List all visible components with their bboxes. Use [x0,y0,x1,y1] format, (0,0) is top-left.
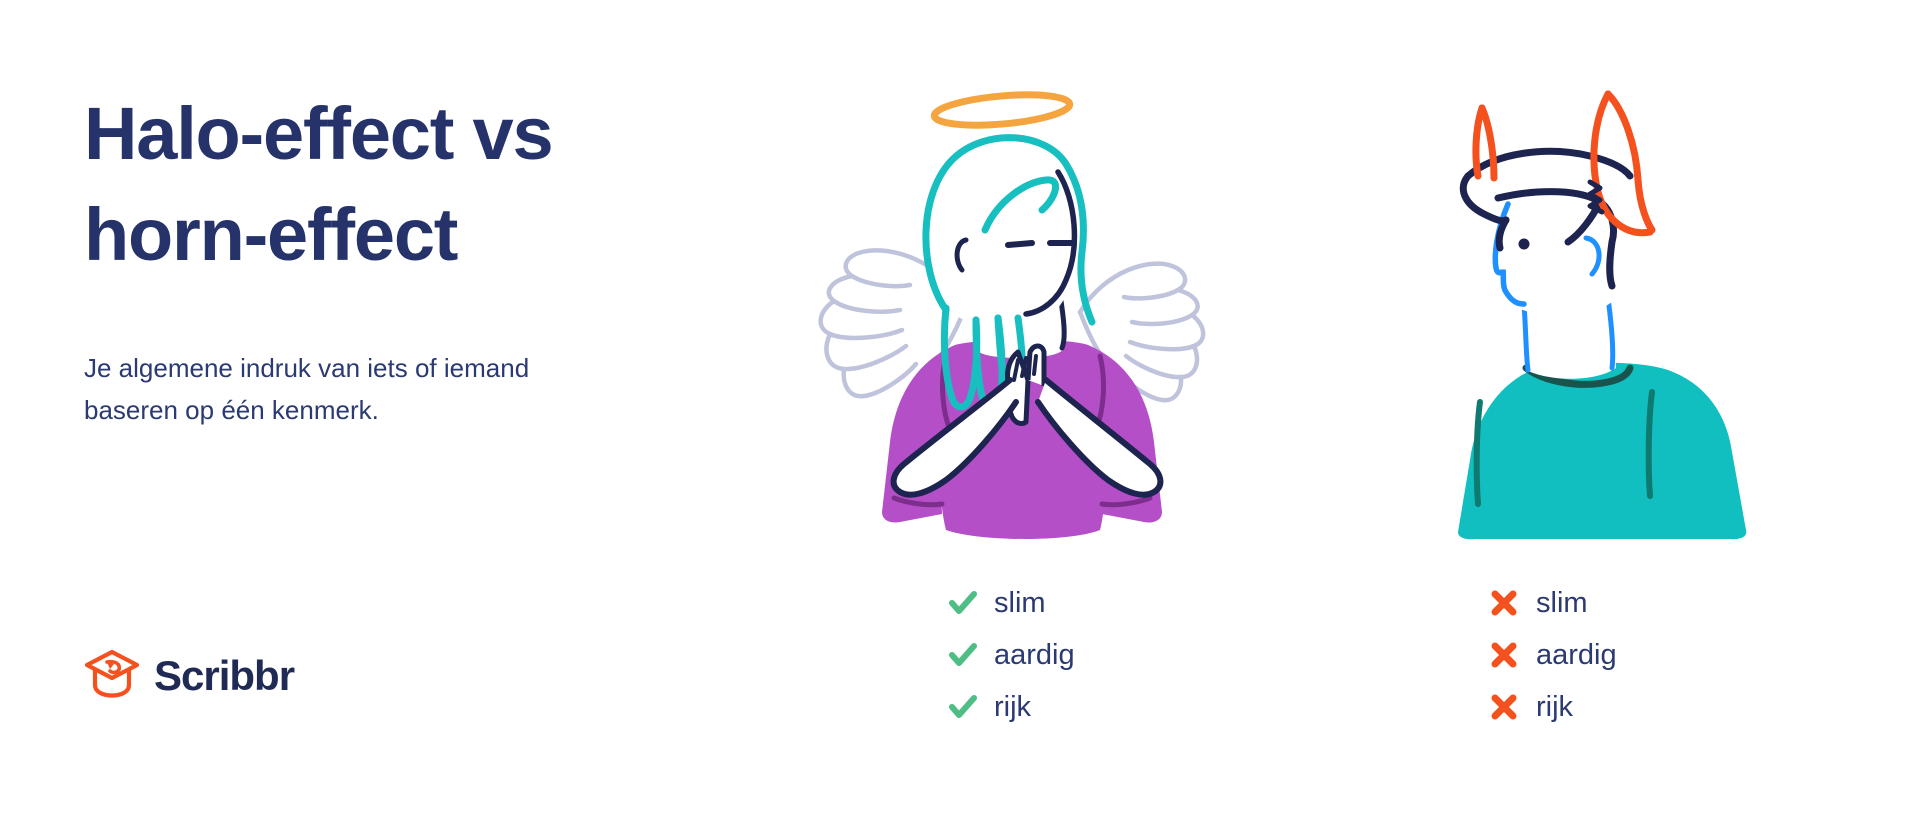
list-item: slim [948,583,1075,623]
trait-label: rijk [1536,691,1573,724]
list-item: rijk [1490,687,1617,727]
text-column: Halo-effect vs horn-effect Je algemene i… [84,84,744,431]
page-subtitle: Je algemene indruk van iets of iemand ba… [84,347,644,431]
list-item: aardig [1490,635,1617,675]
list-item: slim [1490,583,1617,623]
halo-icon [933,90,1071,130]
shirt-fold-right [1649,392,1652,496]
graduation-cap-icon [84,648,140,703]
check-icon [948,641,994,669]
trait-label: aardig [994,639,1075,672]
list-item: aardig [948,635,1075,675]
trait-list-negative: slim aardig rijk [1490,583,1617,727]
cross-icon [1490,641,1536,669]
page-title: Halo-effect vs horn-effect [84,84,744,285]
scribbr-logo[interactable]: Scribbr [84,648,294,703]
devil-figure [1440,80,1870,555]
check-icon [948,693,994,721]
eye-icon [1519,239,1530,250]
trait-label: aardig [1536,639,1617,672]
trait-label: slim [994,587,1046,620]
eye-left-icon [1008,243,1032,245]
cross-icon [1490,693,1536,721]
infographic-canvas: Halo-effect vs horn-effect Je algemene i… [0,0,1932,815]
devil-shirt [1458,363,1746,540]
logo-wordmark: Scribbr [154,652,294,700]
list-item: rijk [948,687,1075,727]
trait-label: rijk [994,691,1031,724]
trait-list-positive: slim aardig rijk [948,583,1075,727]
check-icon [948,589,994,617]
angel-figure [770,80,1230,565]
shirt-fold-left [1477,402,1480,504]
trait-label: slim [1536,587,1588,620]
cross-icon [1490,589,1536,617]
